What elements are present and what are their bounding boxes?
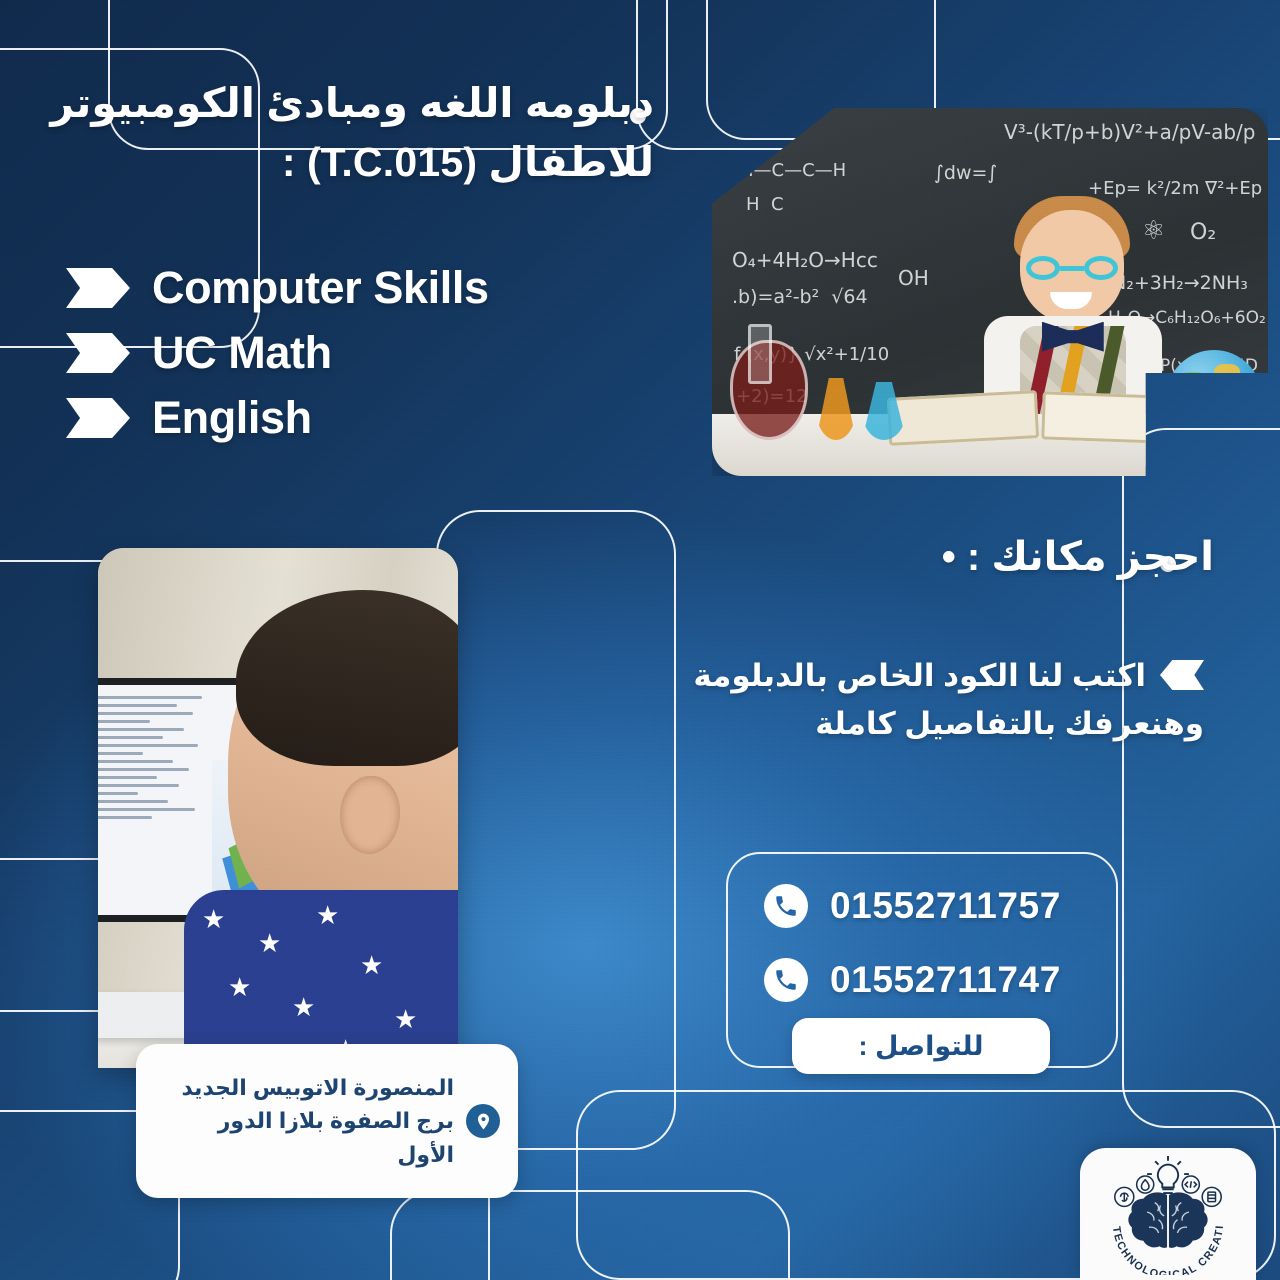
open-book (1041, 391, 1193, 444)
globe-illustration (1166, 350, 1262, 446)
computer-student-photo: ★ ★ ★ ★ ★ ★ ★ ★ (98, 548, 458, 1068)
address-card: المنصورة الاتوبيس الجديد برج الصفوة بلاز… (136, 1044, 518, 1198)
decorative-line-frame (1122, 428, 1280, 1128)
booking-title-text: احجز مكانك : (967, 535, 1214, 579)
poster-canvas: دبلومه اللغه ومبادئ الكومبيوتر للاطفال (… (0, 0, 1280, 1280)
open-book (887, 390, 1039, 446)
booking-line-1-row: اكتب لنا الكود الخاص بالدبلومة (644, 652, 1204, 700)
phone-icon (764, 958, 808, 1002)
list-item: Computer Skills (66, 262, 666, 314)
headline-line-2: للاطفال (T.C.015) : (34, 133, 654, 192)
booking-title: احجز مكانك : • (634, 534, 1214, 580)
phone-icon (764, 884, 808, 928)
list-item: English (66, 392, 666, 444)
phone-row[interactable]: 01552711747 (764, 958, 1061, 1002)
page-title: دبلومه اللغه ومبادئ الكومبيوتر للاطفال (… (34, 74, 654, 193)
brand-logo: TECHNOLOGICAL CREATIONS (1080, 1148, 1256, 1280)
booking-line-1: اكتب لنا الكود الخاص بالدبلومة (693, 658, 1146, 693)
chevron-right-icon (66, 398, 130, 438)
science-student-photo: C H H—C—C—H H C O₄+4H₂O→Hcc .b)=a²-b² √6… (712, 108, 1268, 476)
test-tube-icon (748, 324, 772, 384)
chevron-left-icon (1160, 660, 1204, 690)
skill-label: UC Math (152, 327, 332, 379)
contact-cta-label: للتواصل : (858, 1031, 983, 1062)
bullet-dot-icon: • (942, 535, 956, 579)
address-line-1: المنصورة الاتوبيس الجديد (158, 1071, 454, 1104)
contact-cta-button[interactable]: للتواصل : (792, 1018, 1050, 1074)
address-lines: المنصورة الاتوبيس الجديد برج الصفوة بلاز… (158, 1071, 454, 1171)
location-pin-icon (466, 1104, 500, 1138)
chevron-right-icon (66, 333, 130, 373)
address-line-2: برج الصفوة بلازا الدور الأول (158, 1104, 454, 1171)
phone-number: 01552711747 (830, 959, 1061, 1001)
skill-label: Computer Skills (152, 262, 489, 314)
headline-line-1: دبلومه اللغه ومبادئ الكومبيوتر (34, 74, 654, 133)
skills-list: Computer Skills UC Math English (66, 262, 666, 457)
brain-icon: TECHNOLOGICAL CREATIONS (1092, 1153, 1244, 1275)
list-item: UC Math (66, 327, 666, 379)
student-shirt: ★ ★ ★ ★ ★ ★ ★ ★ (184, 890, 458, 1068)
booking-line-2: وهنعرفك بالتفاصيل كاملة (644, 700, 1204, 748)
skill-label: English (152, 392, 312, 444)
phone-number: 01552711757 (830, 885, 1061, 927)
booking-instructions: اكتب لنا الكود الخاص بالدبلومة وهنعرفك ب… (644, 652, 1204, 748)
decorative-line-frame (390, 1190, 790, 1280)
phone-row[interactable]: 01552711757 (764, 884, 1061, 928)
chevron-right-icon (66, 268, 130, 308)
